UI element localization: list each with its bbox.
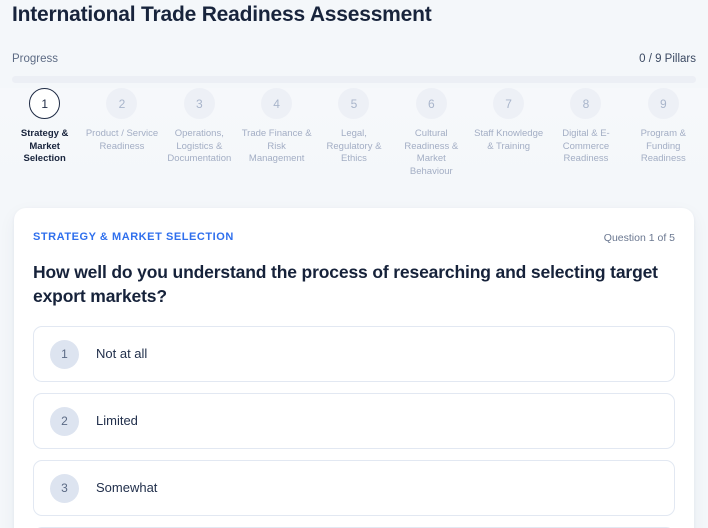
answer-option-number: 3 — [50, 474, 79, 503]
answer-option-label: Limited — [96, 412, 138, 430]
stepper-item-label: Legal, Regulatory & Ethics — [317, 128, 390, 166]
answer-option-number: 2 — [50, 407, 79, 436]
question-card: STRATEGY & MARKET SELECTION Question 1 o… — [14, 208, 694, 528]
stepper-item-label: Program & Funding Readiness — [627, 128, 700, 166]
stepper-number-badge: 4 — [261, 88, 292, 119]
progress-count: 0 / 9 Pillars — [639, 51, 696, 67]
stepper-item-8[interactable]: 8Digital & E-Commerce Readiness — [547, 88, 624, 166]
stepper-item-label: Digital & E-Commerce Readiness — [549, 128, 622, 166]
stepper-item-3[interactable]: 3Operations, Logistics & Documentation — [161, 88, 238, 166]
stepper-item-7[interactable]: 7Staff Knowledge & Training — [470, 88, 547, 153]
stepper-number-badge: 8 — [570, 88, 601, 119]
stepper-item-5[interactable]: 5Legal, Regulatory & Ethics — [315, 88, 392, 166]
pillar-stepper: 1Strategy & Market Selection2Product / S… — [0, 88, 708, 192]
stepper-number-badge: 9 — [648, 88, 679, 119]
answer-option[interactable]: 1Not at all — [33, 326, 675, 382]
stepper-number-badge: 7 — [493, 88, 524, 119]
stepper-item-2[interactable]: 2Product / Service Readiness — [83, 88, 160, 153]
stepper-item-label: Product / Service Readiness — [85, 128, 158, 153]
stepper-item-label: Staff Knowledge & Training — [472, 128, 545, 153]
answer-option[interactable]: 3Somewhat — [33, 460, 675, 516]
stepper-number-badge: 3 — [184, 88, 215, 119]
assessment-page: International Trade Readiness Assessment… — [0, 0, 708, 528]
progress-bar-track — [12, 76, 696, 83]
answer-option-label: Somewhat — [96, 479, 157, 497]
stepper-item-label: Trade Finance & Risk Management — [240, 128, 313, 166]
stepper-item-9[interactable]: 9Program & Funding Readiness — [625, 88, 702, 166]
stepper-item-6[interactable]: 6Cultural Readiness & Market Behaviour — [393, 88, 470, 178]
answer-option[interactable]: 2Limited — [33, 393, 675, 449]
question-counter: Question 1 of 5 — [604, 231, 675, 245]
answer-option-label: Not at all — [96, 345, 147, 363]
stepper-item-label: Strategy & Market Selection — [8, 128, 81, 166]
stepper-item-4[interactable]: 4Trade Finance & Risk Management — [238, 88, 315, 166]
pillar-tag: STRATEGY & MARKET SELECTION — [33, 230, 234, 244]
stepper-number-badge: 1 — [29, 88, 60, 119]
answer-option-number: 1 — [50, 340, 79, 369]
stepper-item-label: Cultural Readiness & Market Behaviour — [395, 128, 468, 178]
question-text: How well do you understand the process o… — [33, 260, 675, 308]
progress-label: Progress — [12, 51, 58, 67]
stepper-item-1[interactable]: 1Strategy & Market Selection — [6, 88, 83, 166]
question-card-header: STRATEGY & MARKET SELECTION Question 1 o… — [33, 230, 675, 248]
answer-options-list: 1Not at all2Limited3Somewhat4 — [33, 326, 675, 528]
stepper-number-badge: 5 — [338, 88, 369, 119]
stepper-item-label: Operations, Logistics & Documentation — [163, 128, 236, 166]
page-title: International Trade Readiness Assessment — [12, 2, 432, 28]
stepper-number-badge: 6 — [416, 88, 447, 119]
stepper-number-badge: 2 — [106, 88, 137, 119]
progress-row: Progress 0 / 9 Pillars — [12, 51, 696, 67]
